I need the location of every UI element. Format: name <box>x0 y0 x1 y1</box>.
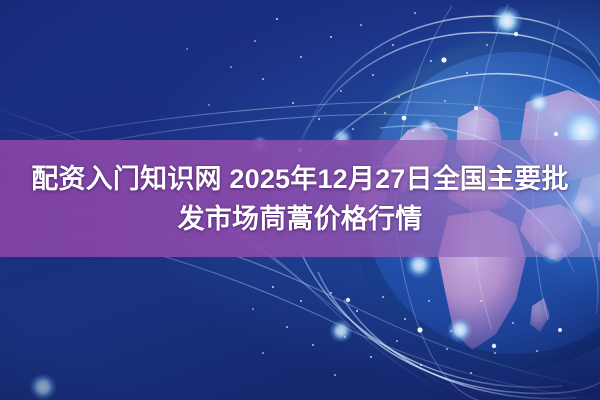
cover-image: 配资入门知识网 2025年12月27日全国主要批 发市场茼蒿价格行情 <box>0 0 600 400</box>
vignette-overlay <box>0 0 600 400</box>
